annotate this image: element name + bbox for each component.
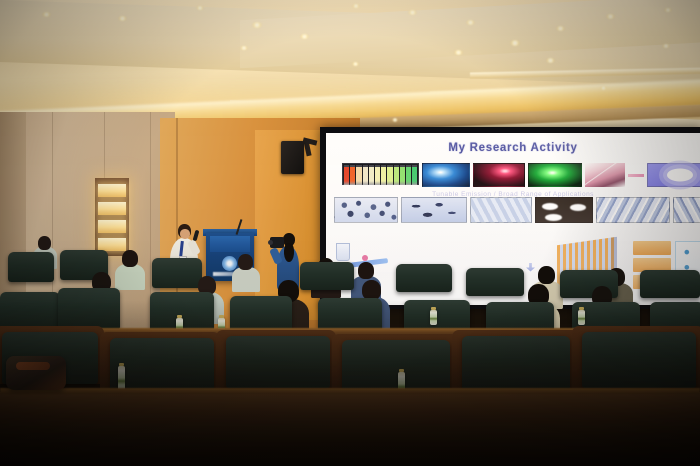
attendee-head bbox=[362, 280, 381, 300]
arrow-down-icon bbox=[526, 263, 535, 272]
slide-row-1 bbox=[342, 163, 700, 187]
sem-nanowires-2 bbox=[673, 197, 700, 223]
attendee-torso bbox=[115, 264, 145, 290]
downlight-10 bbox=[556, 26, 565, 31]
desk-front bbox=[0, 392, 700, 466]
downlight-17 bbox=[352, 62, 359, 66]
downlight-18 bbox=[600, 86, 607, 90]
ring-heatmap-plot bbox=[647, 163, 700, 187]
downlight-2 bbox=[118, 16, 127, 21]
attendee-head bbox=[122, 250, 138, 267]
vial-5 bbox=[369, 165, 374, 185]
downlight-4 bbox=[252, 22, 262, 28]
water-bottle bbox=[578, 310, 585, 325]
tem-micrograph-3 bbox=[470, 197, 532, 223]
chair-front-2 bbox=[110, 338, 214, 392]
chair-back-row-3 bbox=[152, 258, 202, 288]
arrow-right-icon bbox=[628, 174, 644, 177]
wall-sconce bbox=[95, 178, 129, 256]
slide-title: My Research Activity bbox=[326, 142, 700, 154]
chair-mid-row-2 bbox=[58, 288, 120, 330]
attendee-head bbox=[538, 266, 555, 284]
vial-6 bbox=[375, 165, 380, 185]
vial-1 bbox=[344, 165, 349, 185]
attendee-head bbox=[38, 236, 51, 250]
sem-nanowires-1 bbox=[596, 197, 670, 223]
lectern-banner bbox=[210, 236, 250, 252]
vial-7 bbox=[381, 165, 386, 185]
chair-back-row-4 bbox=[300, 262, 354, 290]
water-bottle bbox=[430, 310, 437, 325]
chair-back-row-1 bbox=[8, 252, 54, 282]
slide-row-2 bbox=[334, 197, 700, 223]
downlight-14 bbox=[454, 50, 463, 55]
downlight-11 bbox=[606, 14, 615, 19]
desk-front-edge bbox=[0, 388, 700, 394]
darkfield-micrograph bbox=[535, 197, 593, 223]
backpack bbox=[6, 356, 66, 390]
chair-front-5 bbox=[462, 336, 570, 390]
downlight-15 bbox=[546, 58, 555, 63]
chair-back-row-5 bbox=[396, 264, 452, 292]
attendee-head bbox=[358, 262, 374, 279]
vial-3 bbox=[356, 165, 361, 185]
fluorescence-red-image bbox=[473, 163, 525, 187]
vial-12 bbox=[412, 165, 417, 185]
vial-11 bbox=[406, 165, 411, 185]
wall-loudspeaker-icon bbox=[281, 141, 304, 174]
vial-9 bbox=[394, 165, 399, 185]
fluorescence-green-image bbox=[528, 163, 582, 187]
downlight-9 bbox=[510, 40, 520, 46]
vial-10 bbox=[400, 165, 405, 185]
chair-front-4 bbox=[342, 340, 450, 394]
chair-back-row-8 bbox=[640, 270, 700, 298]
tem-micrograph-1 bbox=[334, 197, 398, 223]
vial-4 bbox=[363, 165, 368, 185]
attendee-torso bbox=[232, 267, 260, 292]
attendee-head bbox=[238, 254, 253, 270]
vial-array-icon bbox=[342, 163, 419, 185]
downlight-20 bbox=[392, 118, 398, 122]
vial-2 bbox=[350, 165, 355, 185]
flexible-film-image bbox=[585, 163, 625, 187]
vial-8 bbox=[387, 165, 392, 185]
chair-back-row-6 bbox=[466, 268, 524, 296]
downlight-1 bbox=[42, 12, 51, 17]
downlight-7 bbox=[408, 10, 417, 15]
chair-front-6 bbox=[582, 332, 696, 388]
fluorescence-blue-image bbox=[422, 163, 470, 187]
downlight-8 bbox=[466, 20, 475, 25]
downlight-5 bbox=[300, 34, 309, 39]
chair-front-3 bbox=[226, 336, 330, 388]
conference-hall-photo: My Research Activity Tunable Emission / … bbox=[0, 0, 700, 466]
tem-micrograph-2 bbox=[401, 197, 467, 223]
